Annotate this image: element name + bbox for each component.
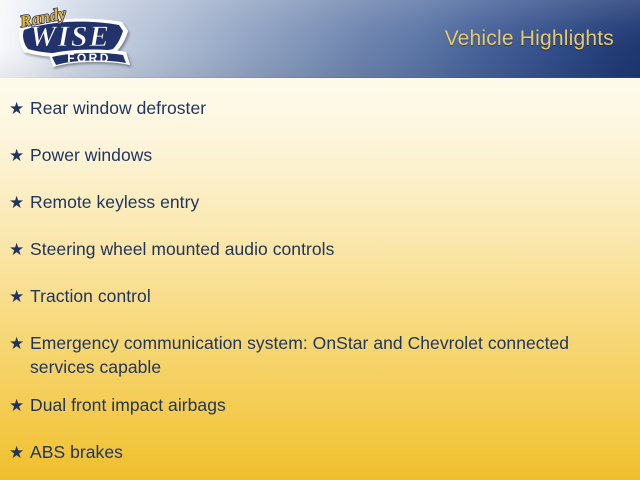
- list-item: ★ Steering wheel mounted audio controls: [0, 237, 640, 270]
- star-icon: ★: [9, 284, 30, 309]
- star-icon: ★: [9, 331, 30, 356]
- list-item: ★ Traction control: [0, 284, 640, 317]
- star-icon: ★: [9, 190, 30, 215]
- list-item: ★ Power windows: [0, 143, 640, 176]
- vehicle-highlights-slide: WISE FORD Randy Vehicle Highlights ★ Rea…: [0, 0, 640, 480]
- page-title: Vehicle Highlights: [445, 27, 614, 51]
- star-icon: ★: [9, 393, 30, 418]
- header-bottom-divider: [0, 77, 640, 78]
- star-icon: ★: [9, 440, 30, 465]
- logo-banner-text: FORD: [67, 51, 111, 65]
- dealer-logo: WISE FORD Randy: [6, 2, 138, 76]
- list-item: ★ Rear window defroster: [0, 96, 640, 129]
- list-item-label: ABS brakes: [30, 440, 575, 464]
- list-item: ★ Emergency communication system: OnStar…: [0, 331, 640, 379]
- list-item-label: Traction control: [30, 284, 575, 308]
- list-item: ★ Dual front impact airbags: [0, 393, 640, 426]
- vehicle-highlights-list: ★ Rear window defroster ★ Power windows …: [0, 78, 640, 480]
- list-item-label: Emergency communication system: OnStar a…: [30, 331, 575, 379]
- list-item-label: Power windows: [30, 143, 575, 167]
- list-item-label: Steering wheel mounted audio controls: [30, 237, 575, 261]
- list-item-label: Dual front impact airbags: [30, 393, 575, 417]
- list-item: ★ Remote keyless entry: [0, 190, 640, 223]
- list-item-label: Rear window defroster: [30, 96, 575, 120]
- star-icon: ★: [9, 143, 30, 168]
- star-icon: ★: [9, 237, 30, 262]
- list-item-label: Remote keyless entry: [30, 190, 575, 214]
- list-item: ★ ABS brakes: [0, 440, 640, 473]
- randy-wise-ford-logo-graphic: WISE FORD Randy: [6, 2, 138, 76]
- star-icon: ★: [9, 96, 30, 121]
